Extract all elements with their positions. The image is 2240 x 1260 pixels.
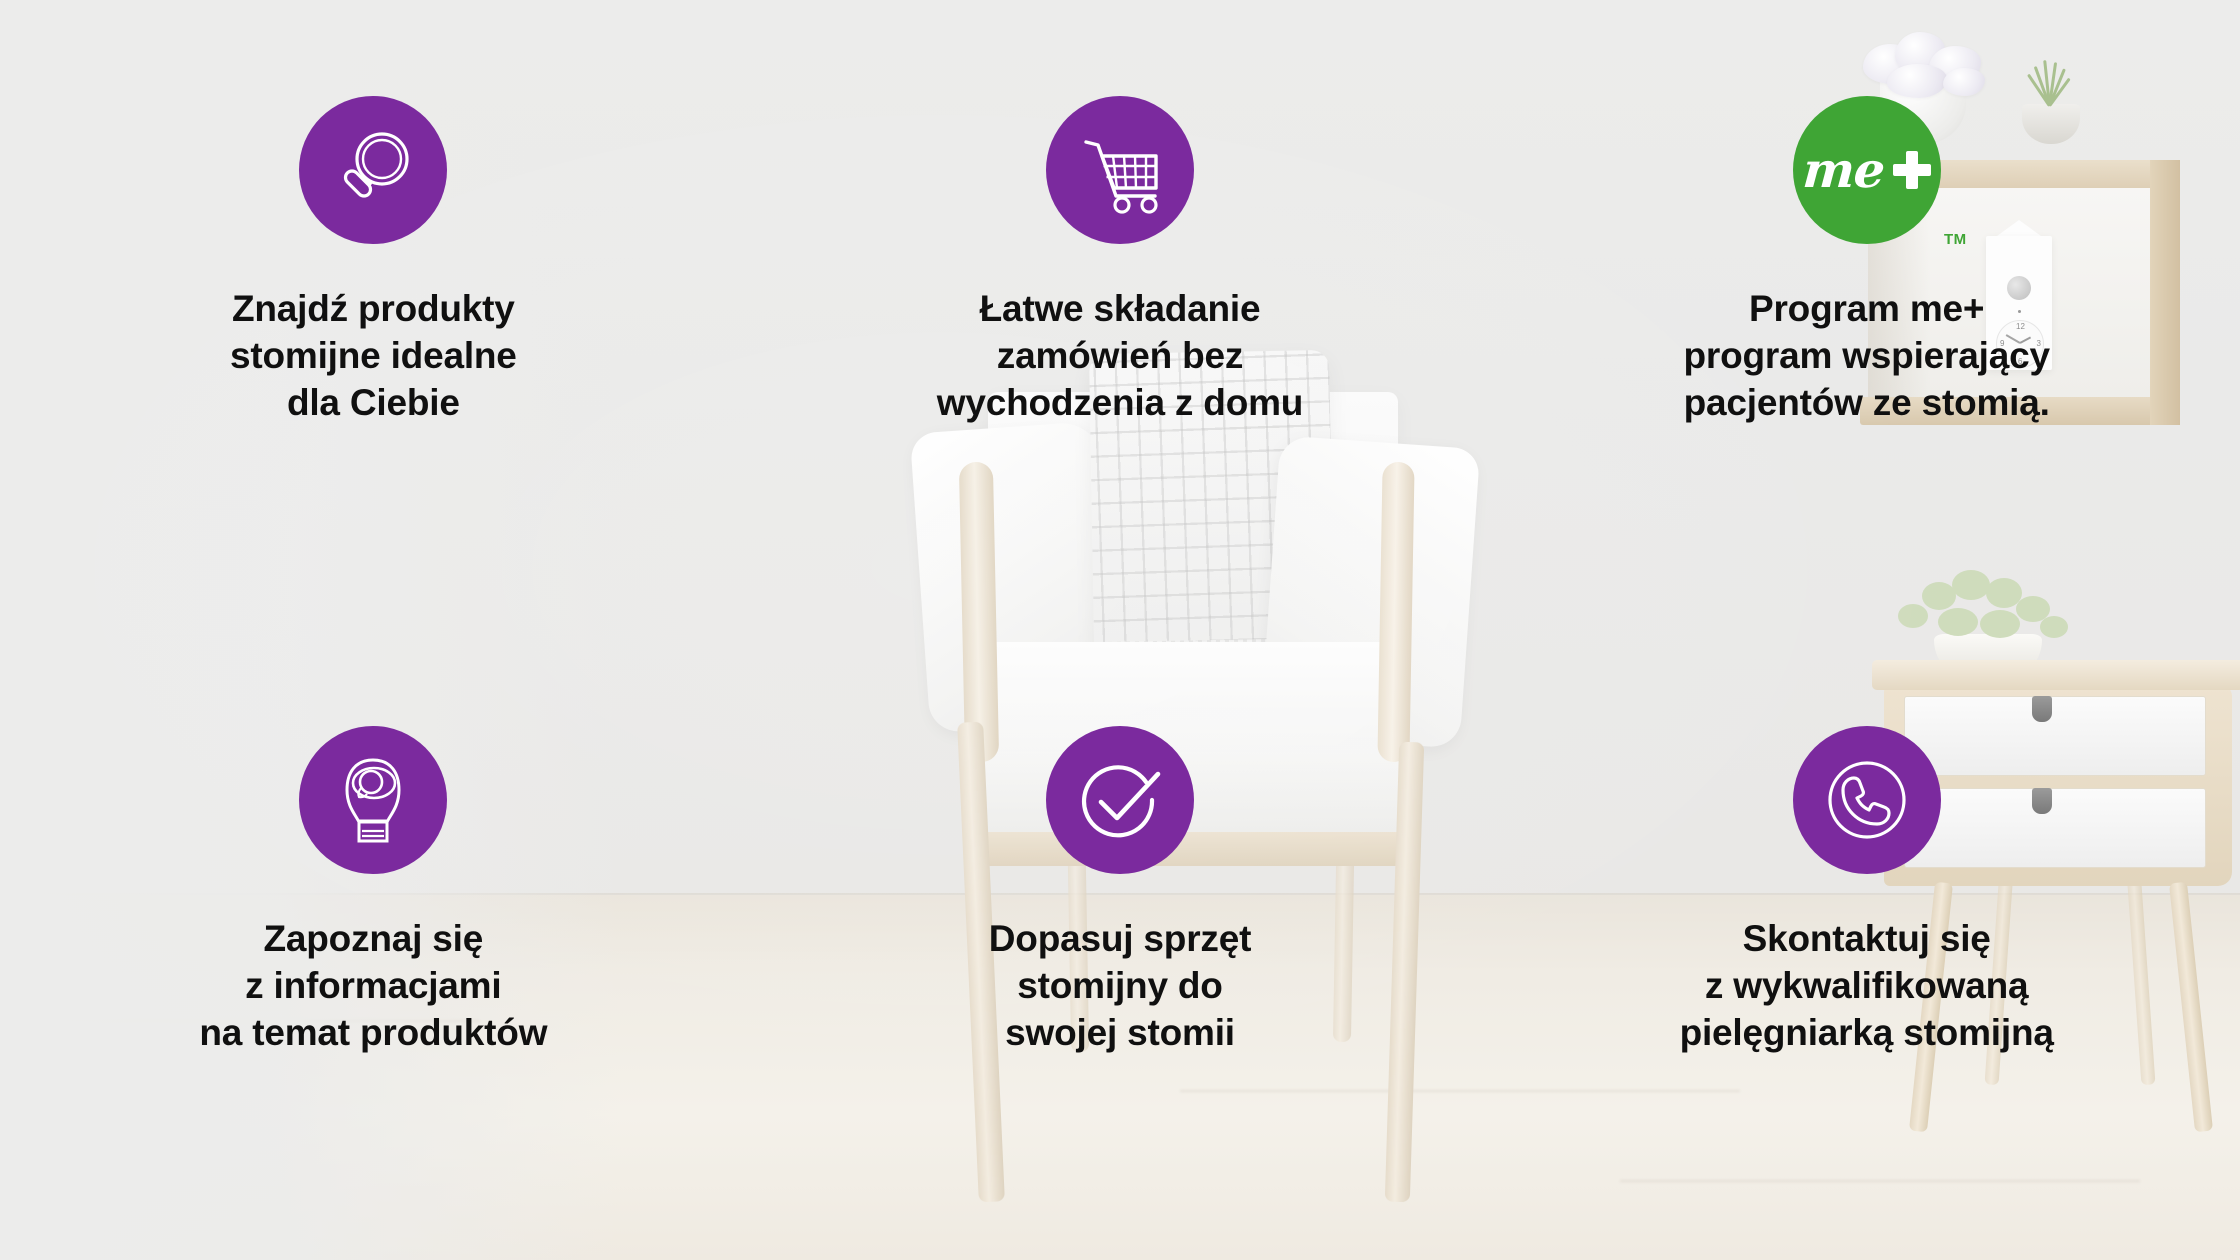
plus-icon — [1893, 151, 1931, 189]
feature-easy-ordering[interactable]: Łatwe składanie zamówień bez wychodzenia… — [747, 0, 1494, 630]
feature-caption: Zapoznaj się z informacjami na temat pro… — [199, 916, 547, 1057]
shopping-cart-icon-badge[interactable] — [1046, 96, 1194, 244]
magnifier-icon — [325, 122, 421, 218]
feature-match-equipment[interactable]: Dopasuj sprzęt stomijny do swojej stomii — [747, 630, 1494, 1260]
ostomy-pouch-icon — [325, 752, 421, 848]
me-plus-logo: me — [1803, 146, 1931, 195]
phone-icon — [1819, 752, 1915, 848]
phone-icon-badge[interactable] — [1793, 726, 1941, 874]
ostomy-pouch-icon-badge[interactable] — [299, 726, 447, 874]
me-plus-wordmark: me — [1801, 146, 1885, 195]
feature-caption: Skontaktuj się z wykwalifikowaną pielęgn… — [1680, 916, 2054, 1057]
check-circle-icon-badge[interactable] — [1046, 726, 1194, 874]
feature-find-products[interactable]: Znajdź produkty stomijne idealne dla Cie… — [0, 0, 747, 630]
check-circle-icon — [1072, 752, 1168, 848]
feature-caption: Znajdź produkty stomijne idealne dla Cie… — [230, 286, 517, 427]
shopping-cart-icon — [1072, 122, 1168, 218]
magnifier-icon-badge[interactable] — [299, 96, 447, 244]
feature-caption: Łatwe składanie zamówień bez wychodzenia… — [937, 286, 1303, 427]
feature-me-plus-program[interactable]: me TM Program me+ program wspierający pa… — [1493, 0, 2240, 630]
feature-caption: Dopasuj sprzęt stomijny do swojej stomii — [989, 916, 1251, 1057]
trademark-mark: TM — [1944, 231, 1967, 248]
promo-banner: 12 3 6 9 — [0, 0, 2240, 1260]
feature-product-information[interactable]: Zapoznaj się z informacjami na temat pro… — [0, 630, 747, 1260]
feature-caption: Program me+ program wspierający pacjentó… — [1683, 286, 2049, 427]
feature-contact-nurse[interactable]: Skontaktuj się z wykwalifikowaną pielęgn… — [1493, 630, 2240, 1260]
feature-grid: Znajdź produkty stomijne idealne dla Cie… — [0, 0, 2240, 1260]
me-plus-logo-badge[interactable]: me TM — [1793, 96, 1941, 244]
